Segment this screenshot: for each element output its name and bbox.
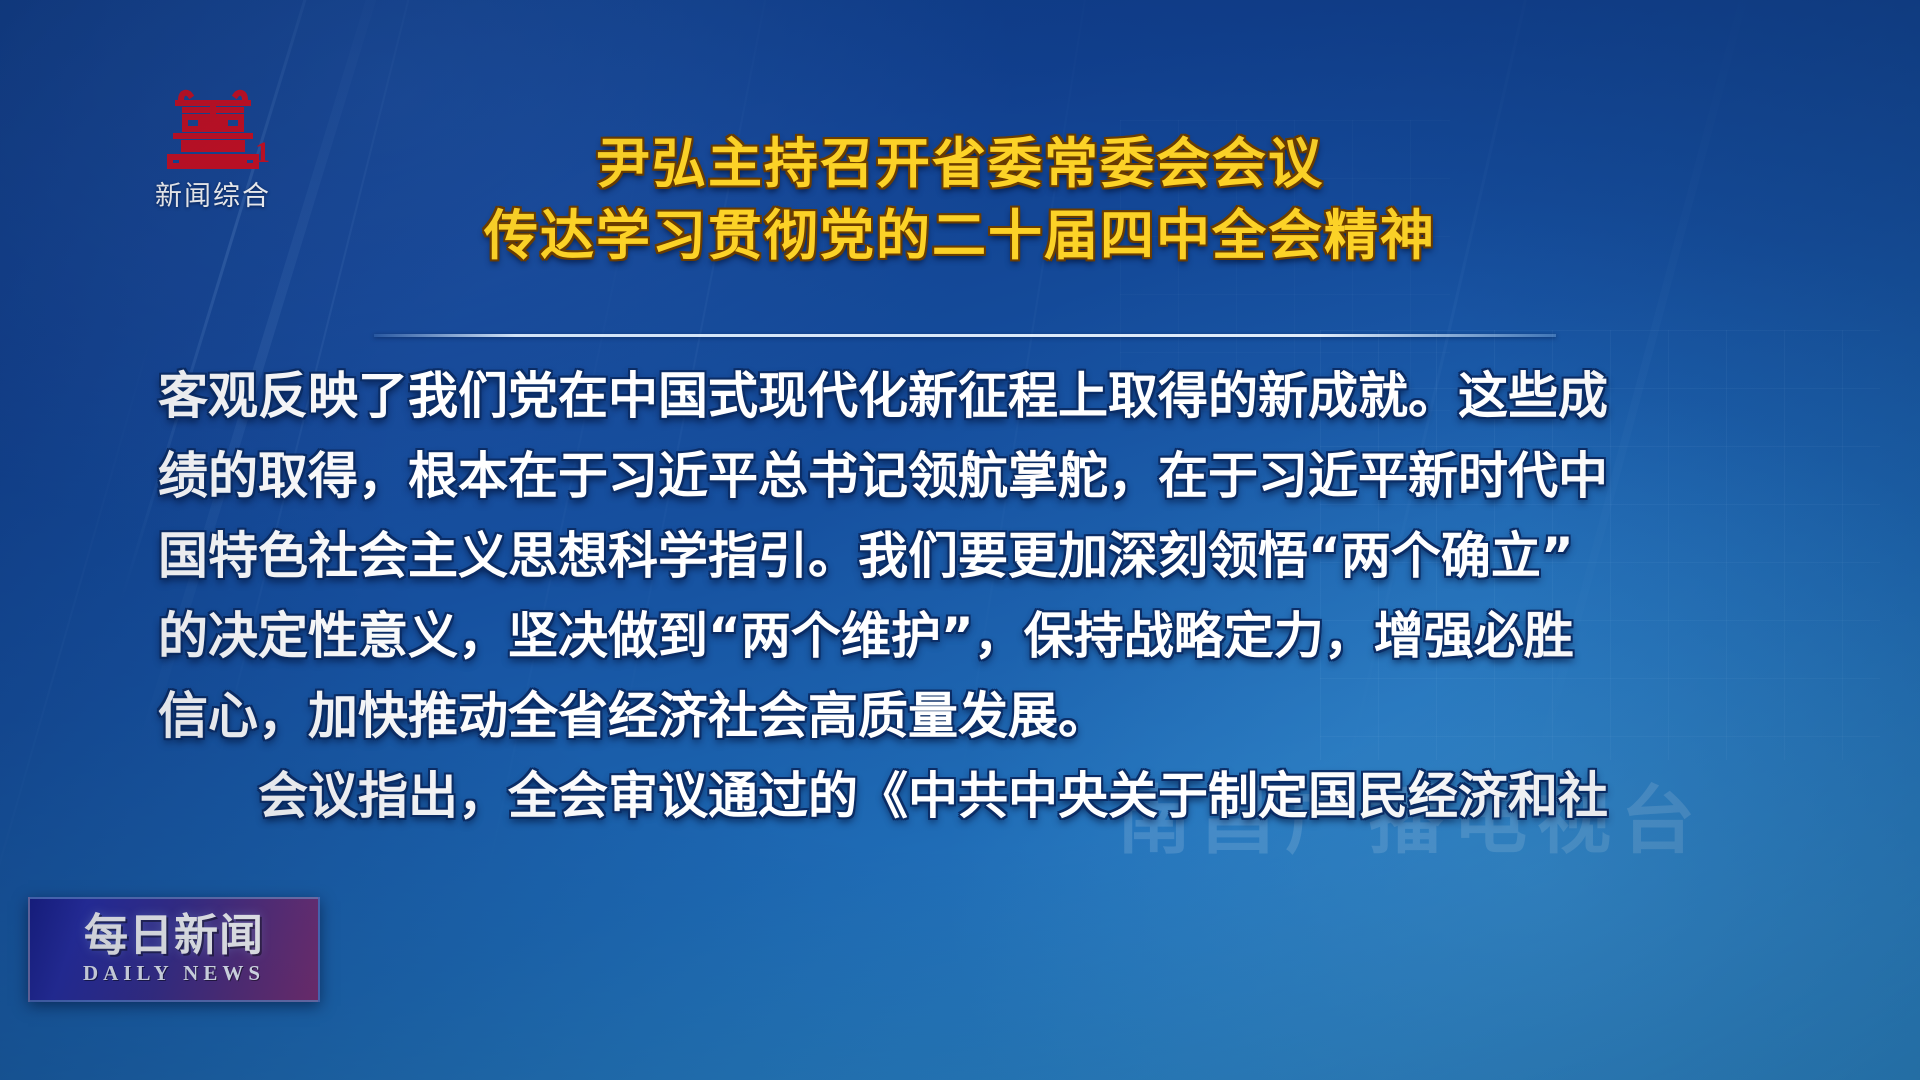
subtitle-line: 国特色社会主义思想科学指引。我们要更加深刻领悟“两个确立” [158,516,1798,596]
nanchang-tv-pavilion-logo-icon: 1 [154,86,272,172]
broadcast-screen: 1 新闻综合 尹弘主持召开省委常委会会议 传达学习贯彻党的二十届四中全会精神 南… [0,0,1920,1080]
channel-logo-block: 1 新闻综合 [128,86,298,211]
channel-name: 新闻综合 [128,174,298,213]
channel-number: 1 [255,138,270,168]
subtitle-line: 会议指出，全会审议通过的《中共中央关于制定国民经济和社 [158,756,1798,836]
headline: 尹弘主持召开省委常委会会议 传达学习贯彻党的二十届四中全会精神 [300,128,1620,272]
headline-divider [374,334,1556,337]
program-title-cn: 每日新闻 [84,913,264,959]
program-title-en: DAILY NEWS [83,961,265,986]
headline-line-1: 尹弘主持召开省委常委会会议 [300,128,1620,200]
headline-line-2: 传达学习贯彻党的二十届四中全会精神 [300,200,1620,272]
light-streak [0,313,158,986]
program-badge: 每日新闻 DAILY NEWS [28,897,320,1002]
subtitle-line: 客观反映了我们党在中国式现代化新征程上取得的新成就。这些成 [158,356,1798,436]
subtitle-line: 信心，加快推动全省经济社会高质量发展。 [158,676,1798,756]
subtitle-line: 的决定性意义，坚决做到“两个维护”，保持战略定力，增强必胜 [158,596,1798,676]
subtitle-line: 绩的取得，根本在于习近平总书记领航掌舵，在于习近平新时代中 [158,436,1798,516]
subtitle-body: 客观反映了我们党在中国式现代化新征程上取得的新成就。这些成 绩的取得，根本在于习… [158,356,1798,836]
